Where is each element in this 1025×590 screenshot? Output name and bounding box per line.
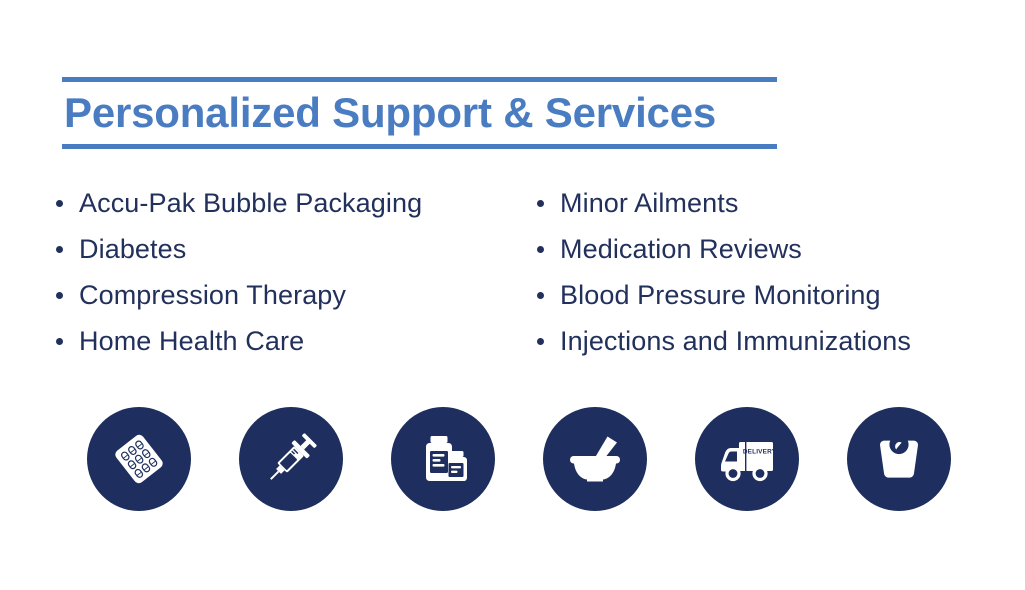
bullet-dot-icon [537,200,544,207]
services-list: Accu-Pak Bubble Packaging Diabetes Compr… [0,180,1025,364]
service-label: Medication Reviews [560,226,802,272]
bullet-dot-icon [537,338,544,345]
weight-scale-icon [869,429,929,489]
page-title: Personalized Support & Services [62,82,777,144]
syringe-icon [261,429,321,489]
mortar-pestle-icon [565,429,625,489]
icon-badge-syringe [239,407,343,511]
icon-badge-delivery-truck: DELIVERY [695,407,799,511]
blister-pack-icon [109,429,169,489]
services-column-right: Minor Ailments Medication Reviews Blood … [0,180,537,364]
bullet-dot-icon [56,246,63,253]
pill-bottles-icon [413,429,473,489]
bullet-dot-icon [56,292,63,299]
icon-badge-blister-pack [87,407,191,511]
icon-badge-weight-scale [847,407,951,511]
bullet-dot-icon [537,292,544,299]
truck-delivery-text: DELIVERY [743,449,777,456]
icon-badge-pill-bottles [391,407,495,511]
bullet-dot-icon [537,246,544,253]
services-graphic: Personalized Support & Services Accu-Pak… [0,0,1025,590]
service-label: Minor Ailments [560,180,738,226]
icon-badge-mortar-pestle [543,407,647,511]
service-label: Injections and Immunizations [560,318,911,364]
bullet-dot-icon [56,338,63,345]
service-label: Blood Pressure Monitoring [560,272,881,318]
delivery-truck-icon: DELIVERY [715,429,779,489]
title-block: Personalized Support & Services [62,77,777,149]
bullet-dot-icon [56,200,63,207]
icon-row: DELIVERY [87,407,951,511]
title-rule-bottom [62,144,777,149]
